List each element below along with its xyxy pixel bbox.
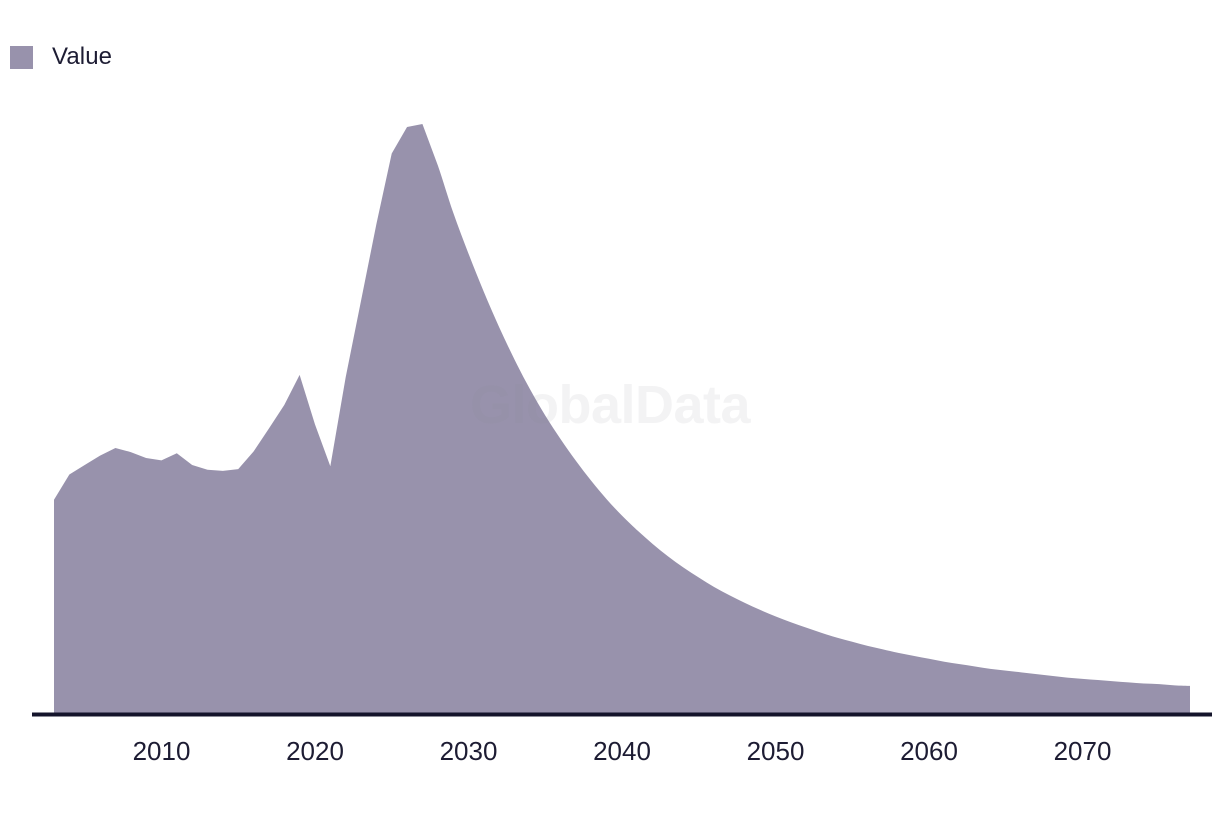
x-tick-label-2050: 2050 — [747, 738, 805, 764]
x-tick-label-2070: 2070 — [1054, 738, 1112, 764]
x-tick-label-2060: 2060 — [900, 738, 958, 764]
x-tick-label-2030: 2030 — [440, 738, 498, 764]
x-tick-label-2020: 2020 — [286, 738, 344, 764]
x-axis-tick-labels: 2010202020302040205020602070 — [0, 738, 1220, 772]
series-area-value — [54, 124, 1190, 713]
x-tick-label-2010: 2010 — [133, 738, 191, 764]
plot-svg — [0, 0, 1220, 816]
area-chart: Value GlobalData 20102020203020402050206… — [0, 0, 1220, 816]
x-tick-label-2040: 2040 — [593, 738, 651, 764]
plot-area — [0, 0, 1220, 816]
